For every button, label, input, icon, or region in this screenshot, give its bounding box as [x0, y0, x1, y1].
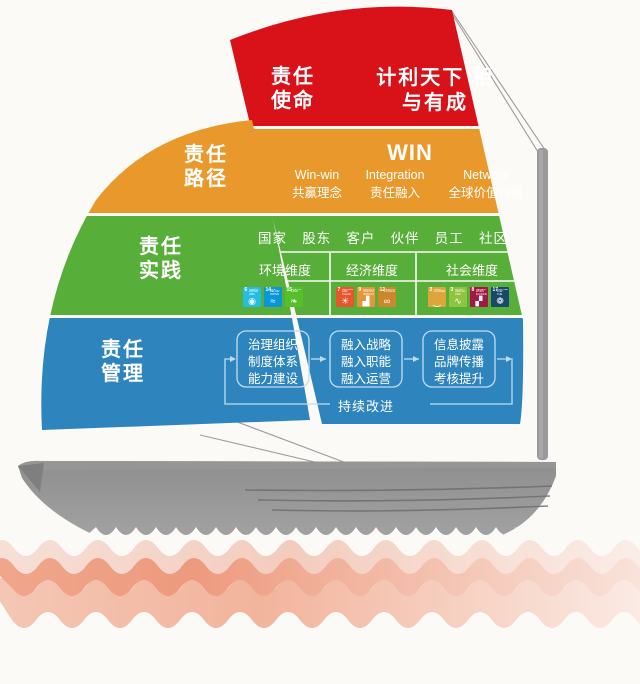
stakeholder-row: 国家 股东 客户 伙伴 员工 社区 [258, 227, 508, 247]
sdg-title: Zero hunger [434, 289, 445, 295]
sdg-row-environment: 6 Clean water and sanitation ◉ 14 Life b… [243, 287, 303, 307]
sdg-glyph-icon: ☀ [336, 297, 354, 306]
sdg-title: Affordable and clean energy [342, 289, 353, 295]
sdg-number: 2 [430, 288, 433, 293]
win-pillar: Integration 责任融入 [355, 168, 435, 201]
sdg-icon-15: 15 Life on land ❧ [285, 287, 303, 307]
sdg-icon-9: 9 Industry innovation infrastructure ▟ [357, 287, 375, 307]
level-label-management: 责任 管理 [78, 339, 168, 386]
sdg-number: 6 [245, 288, 248, 293]
sdg-title: Decent work economic growth [476, 289, 487, 295]
process-box-label-2: 融入战略 融入职能 融入运营 [330, 337, 402, 388]
stakeholder: 伙伴 [391, 227, 420, 247]
win-pillar-cn: 责任融入 [355, 182, 435, 201]
stakeholder: 股东 [302, 227, 331, 247]
win-pillar-en: Network [440, 168, 532, 182]
sdg-number: 9 [359, 288, 362, 293]
sdg-icon-7: 7 Affordable and clean energy ☀ [336, 287, 354, 307]
level-label-path: 责任 路径 [161, 144, 251, 191]
win-pillar-cn: 共赢理念 [284, 182, 350, 201]
sdg-icon-14: 14 Life below water ≈ [264, 287, 282, 307]
sdg-row-economic: 7 Affordable and clean energy ☀ 9 Indust… [336, 287, 396, 307]
process-box-label-3: 信息披露 品牌传播 考核提升 [423, 337, 495, 388]
infographic-canvas: 责任 使命 计利天下 相与有成 责任 路径 WIN Win-win 共赢理念 I… [0, 0, 640, 684]
level-label-practice: 责任 实践 [116, 236, 206, 283]
continuous-improvement-label: 持续改进 [330, 396, 402, 415]
sdg-number: 7 [338, 288, 341, 293]
process-box-label-1: 治理组织 制度体系 能力建设 [237, 337, 309, 388]
win-pillar-en: Win-win [284, 168, 350, 182]
sdg-glyph-icon: ▟ [357, 297, 375, 306]
sdg-icon-12: 12 Responsible consumption ∞ [378, 287, 396, 307]
win-pillars: Win-win 共赢理念 Integration 责任融入 Network 全球… [284, 168, 532, 201]
stakeholder: 员工 [435, 227, 464, 247]
mast [537, 148, 548, 460]
sdg-title: Industry innovation infrastructure [363, 289, 374, 295]
sdg-icon-3: 3 Good health and well-being ∿ [449, 287, 467, 307]
sdg-glyph-icon: ∞ [378, 297, 396, 306]
dimension-label-environment: 环境维度 [240, 260, 330, 279]
sdg-glyph-icon: ❧ [285, 297, 303, 306]
dimension-label-social: 社会维度 [416, 260, 528, 279]
sdg-title: Responsible consumption [384, 289, 395, 295]
sdg-icon-6: 6 Clean water and sanitation ◉ [243, 287, 261, 307]
sdg-icon-17: 17 Partnerships for the goals ❁ [491, 287, 509, 307]
sdg-glyph-icon: ∿ [449, 297, 467, 306]
sdg-glyph-icon: ≈ [264, 297, 282, 306]
sdg-glyph-icon: ❁ [491, 297, 509, 306]
sdg-glyph-icon: ◉ [243, 297, 261, 306]
sdg-icon-8: 8 Decent work economic growth ▞ [470, 287, 488, 307]
win-title: WIN [330, 140, 490, 166]
sdg-title: Life below water [270, 289, 281, 295]
stakeholder: 客户 [346, 227, 375, 247]
sdg-title: Good health and well-being [455, 289, 466, 295]
sdg-row-social: 2 Zero hunger ⏝ 3 Good health and well-b… [428, 287, 509, 307]
level-label-mission: 责任 使命 [248, 66, 338, 113]
sdg-glyph-icon: ⏝ [428, 297, 446, 306]
sdg-number: 3 [451, 288, 454, 293]
stakeholder: 社区 [479, 227, 508, 247]
mission-slogan: 计利天下 相与有成 [370, 66, 500, 116]
sdg-icon-2: 2 Zero hunger ⏝ [428, 287, 446, 307]
win-pillar-en: Integration [355, 168, 435, 182]
win-pillar: Win-win 共赢理念 [284, 168, 350, 201]
stakeholder: 国家 [258, 227, 287, 247]
sdg-title: Clean water and sanitation [249, 289, 260, 295]
sdg-glyph-icon: ▞ [470, 297, 488, 306]
win-pillar: Network 全球价值网络 [440, 168, 532, 201]
win-pillar-cn: 全球价值网络 [440, 182, 532, 201]
sdg-title: Life on land [291, 289, 302, 295]
sdg-title: Partnerships for the goals [497, 289, 508, 295]
sdg-number: 8 [472, 288, 475, 293]
dimension-label-economic: 经济维度 [328, 260, 416, 279]
